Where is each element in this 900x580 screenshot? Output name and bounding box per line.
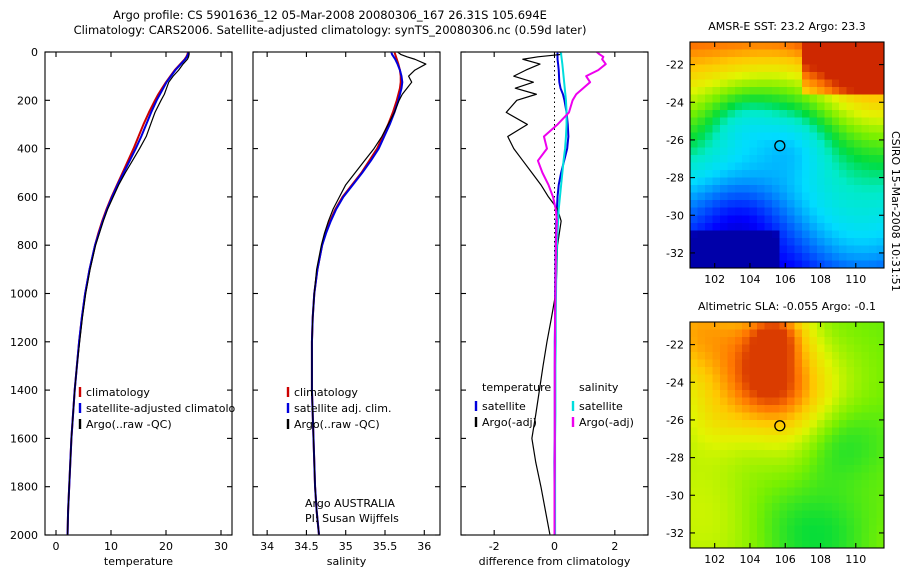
map-cell (757, 510, 765, 518)
map-cell (712, 208, 720, 216)
map-cell (780, 375, 788, 383)
map-cell (817, 102, 825, 110)
map-cell (690, 50, 698, 58)
map-cell (869, 163, 877, 171)
map-cell (742, 80, 750, 88)
map-cell (727, 420, 735, 428)
map-cell (787, 95, 795, 103)
map-cell (824, 390, 832, 398)
map-cell (862, 458, 870, 466)
map-cell (727, 450, 735, 458)
map-cell (862, 397, 870, 405)
map-cell (780, 65, 788, 73)
map-cell (802, 412, 810, 420)
map-cell (817, 458, 825, 466)
depth-tick-label: 1200 (10, 336, 38, 349)
map-cell (757, 238, 765, 246)
map-cell (862, 230, 870, 238)
map-cell (765, 450, 773, 458)
map-cell (832, 390, 840, 398)
map-cell (705, 57, 713, 65)
map-cell (697, 525, 705, 533)
map-cell (824, 132, 832, 140)
map-cell (787, 503, 795, 511)
map-cell (817, 193, 825, 201)
map-cell (742, 200, 750, 208)
map-cell (809, 322, 817, 330)
map-cell (802, 375, 810, 383)
map-cell (832, 230, 840, 238)
map-cell (690, 390, 698, 398)
map-cell (839, 397, 847, 405)
map-cell (772, 80, 780, 88)
map-cell (772, 412, 780, 420)
lat-tick-label: -28 (666, 452, 684, 465)
map-cell (780, 102, 788, 110)
map-cell (705, 375, 713, 383)
map-cell (690, 488, 698, 496)
map-cell (854, 367, 862, 375)
map-cell (750, 330, 758, 338)
map-cell (772, 238, 780, 246)
map-cell (712, 200, 720, 208)
map-cell (802, 147, 810, 155)
map-cell (742, 170, 750, 178)
map-cell (847, 110, 855, 118)
map-cell (787, 223, 795, 231)
map-cell (780, 208, 788, 216)
map-cell (780, 193, 788, 201)
map-cell (712, 495, 720, 503)
map-cell (817, 178, 825, 186)
map-cell (697, 223, 705, 231)
map-cell (697, 65, 705, 73)
map-cell (757, 140, 765, 148)
map-cell (765, 102, 773, 110)
map-cell (720, 367, 728, 375)
legend-column-header: salinity (579, 381, 619, 394)
map-cell (839, 322, 847, 330)
map-cell (794, 420, 802, 428)
map-cell (705, 260, 713, 268)
map-cell (862, 337, 870, 345)
map-cell (832, 163, 840, 171)
map-cell (772, 110, 780, 118)
legend-label: satellite (482, 400, 526, 413)
map-cell (809, 352, 817, 360)
map-cell (742, 230, 750, 238)
map-cell (847, 488, 855, 496)
map-cell (727, 185, 735, 193)
map-cell (727, 375, 735, 383)
profile-panels: 0102030temperature0200400600800100012001… (10, 46, 648, 568)
map-cell (794, 57, 802, 65)
map-cell (735, 540, 743, 548)
map-cell (862, 132, 870, 140)
map-cell (839, 420, 847, 428)
map-cell (765, 208, 773, 216)
map-cell (705, 65, 713, 73)
map-cell (817, 147, 825, 155)
map-cell (787, 102, 795, 110)
map-cell (720, 473, 728, 481)
map-cell (839, 473, 847, 481)
map-cell (757, 95, 765, 103)
map-cell (697, 110, 705, 118)
map-cell (869, 465, 877, 473)
map-cell (824, 375, 832, 383)
map-cell (697, 427, 705, 435)
map-cell (750, 412, 758, 420)
map-cell (787, 367, 795, 375)
map-cell (720, 208, 728, 216)
map-cell (780, 495, 788, 503)
map-cell (877, 420, 885, 428)
map-cell (869, 193, 877, 201)
map-cell (780, 215, 788, 223)
lat-tick-label: -26 (666, 414, 684, 427)
map-cell (877, 345, 885, 353)
map-cell (869, 525, 877, 533)
map-cell (712, 375, 720, 383)
map-cell (824, 510, 832, 518)
map-cell (765, 360, 773, 368)
map-cell (832, 260, 840, 268)
map-cell (794, 337, 802, 345)
map-cell (869, 473, 877, 481)
map-cell (735, 382, 743, 390)
map-cell (757, 125, 765, 133)
map-cell (839, 80, 847, 88)
map-cell (847, 495, 855, 503)
map-cell (727, 503, 735, 511)
map-cell (750, 110, 758, 118)
map-cell (794, 533, 802, 541)
map-cell (794, 480, 802, 488)
map-cell (750, 427, 758, 435)
map-cell (817, 495, 825, 503)
map-cell (690, 87, 698, 95)
map-cell (727, 480, 735, 488)
map-cell (832, 488, 840, 496)
map-cell (824, 533, 832, 541)
map-cell (869, 80, 877, 88)
map-cell (697, 337, 705, 345)
map-cell (712, 57, 720, 65)
lon-tick-label: 104 (739, 273, 760, 286)
map-cell (847, 132, 855, 140)
map-cell (854, 50, 862, 58)
map-cell (787, 253, 795, 261)
x-tick-label: 10 (104, 540, 118, 553)
map-cell (697, 245, 705, 253)
map-cell (765, 223, 773, 231)
map-cell (862, 495, 870, 503)
map-cell (809, 185, 817, 193)
map-cell (720, 147, 728, 155)
map-cell (742, 503, 750, 511)
map-cell (809, 132, 817, 140)
map-cell (809, 65, 817, 73)
map-cell (824, 230, 832, 238)
map-cell (794, 322, 802, 330)
map-cell (839, 360, 847, 368)
map-cell (817, 140, 825, 148)
map-cell (690, 208, 698, 216)
map-cell (727, 518, 735, 526)
map-cell (817, 110, 825, 118)
map-cell (735, 65, 743, 73)
map-cell (854, 253, 862, 261)
map-cell (727, 80, 735, 88)
panel-annotation: Argo AUSTRALIA (305, 497, 395, 510)
x-tick-label: 36 (417, 540, 431, 553)
map-cell (712, 230, 720, 238)
map-cell (824, 435, 832, 443)
map-cell (750, 360, 758, 368)
map-cell (735, 170, 743, 178)
map-cell (809, 117, 817, 125)
map-cell (832, 518, 840, 526)
map-cell (780, 352, 788, 360)
lat-tick-label: -26 (666, 134, 684, 147)
map-cell (817, 525, 825, 533)
map-cell (809, 495, 817, 503)
map-cell (742, 397, 750, 405)
map-cell (794, 525, 802, 533)
map-cell (705, 488, 713, 496)
map-cell (809, 503, 817, 511)
map-cell (877, 110, 885, 118)
map-cell (809, 337, 817, 345)
depth-tick-label: 600 (17, 191, 38, 204)
map-cell (750, 95, 758, 103)
map-cell (712, 367, 720, 375)
map-cell (772, 208, 780, 216)
map-cell (705, 72, 713, 80)
map-cell (712, 465, 720, 473)
map-cell (832, 87, 840, 95)
map-cell (742, 117, 750, 125)
map-cell (757, 503, 765, 511)
map-cell (817, 230, 825, 238)
map-cell (705, 382, 713, 390)
map-cell (750, 352, 758, 360)
map-cell (824, 102, 832, 110)
map-cell (787, 533, 795, 541)
map-cell (697, 367, 705, 375)
map-cell (824, 427, 832, 435)
map-cell (877, 435, 885, 443)
map-cell (720, 230, 728, 238)
map-cell (757, 178, 765, 186)
map-cell (765, 435, 773, 443)
map-cell (750, 525, 758, 533)
map-cell (765, 200, 773, 208)
map-cell (877, 87, 885, 95)
map-cell (824, 253, 832, 261)
map-cell (690, 427, 698, 435)
map-cell (847, 50, 855, 58)
map-cell (690, 200, 698, 208)
map-cell (780, 50, 788, 58)
map-cell (780, 382, 788, 390)
map-cell (869, 435, 877, 443)
map-cell (839, 72, 847, 80)
map-cell (794, 50, 802, 58)
map-cell (877, 163, 885, 171)
map-cell (690, 375, 698, 383)
map-cell (839, 42, 847, 50)
map-cell (735, 337, 743, 345)
map-cell (817, 367, 825, 375)
map-cell (809, 525, 817, 533)
map-cell (697, 345, 705, 353)
map-cell (847, 170, 855, 178)
map-cell (765, 238, 773, 246)
map-cell (832, 337, 840, 345)
map-cell (809, 163, 817, 171)
map-cell (877, 473, 885, 481)
map-cell (847, 253, 855, 261)
map-cell (802, 95, 810, 103)
map-cell (750, 533, 758, 541)
map-cell (757, 450, 765, 458)
map-cell (735, 427, 743, 435)
map-cell (817, 488, 825, 496)
map-cell (794, 185, 802, 193)
map-cell (720, 140, 728, 148)
map-cell (824, 495, 832, 503)
map-cell (742, 480, 750, 488)
map-cell (712, 435, 720, 443)
map-cell (750, 140, 758, 148)
map-cell (727, 72, 735, 80)
map-cell (854, 488, 862, 496)
map-cell (757, 375, 765, 383)
map-cell (750, 72, 758, 80)
map-cell (772, 95, 780, 103)
map-cell (697, 260, 705, 268)
map-cell (780, 473, 788, 481)
map-cell (824, 360, 832, 368)
map-cell (765, 163, 773, 171)
map-cell (705, 102, 713, 110)
map-cell (802, 367, 810, 375)
map-cell (697, 102, 705, 110)
map-cell (742, 50, 750, 58)
map-cell (712, 253, 720, 261)
map-cell (780, 110, 788, 118)
map-cell (832, 65, 840, 73)
map-cell (847, 435, 855, 443)
map-cell (772, 223, 780, 231)
map-cell (809, 427, 817, 435)
map-cell (705, 525, 713, 533)
map-cell (750, 480, 758, 488)
map-cell (727, 140, 735, 148)
map-cell (705, 540, 713, 548)
map-cell (877, 458, 885, 466)
map-cell (772, 230, 780, 238)
map-cell (854, 427, 862, 435)
map-cell (862, 50, 870, 58)
map-cell (705, 330, 713, 338)
map-cell (862, 345, 870, 353)
map-cell (772, 473, 780, 481)
lon-tick-label: 104 (739, 553, 760, 566)
map-cell (802, 503, 810, 511)
map-cell (735, 510, 743, 518)
map-cell (787, 360, 795, 368)
map-cell (862, 193, 870, 201)
map-cell (877, 102, 885, 110)
map-cell (847, 458, 855, 466)
map-cell (780, 345, 788, 353)
map-cell (705, 443, 713, 451)
map-cell (802, 435, 810, 443)
map-cell (877, 322, 885, 330)
map-cell (780, 390, 788, 398)
map-cell (854, 223, 862, 231)
map-cell (735, 208, 743, 216)
map-cell (847, 405, 855, 413)
map-cell (839, 102, 847, 110)
map-cell (765, 367, 773, 375)
map-cell (847, 420, 855, 428)
map-cell (877, 215, 885, 223)
map-cell (772, 405, 780, 413)
map-cell (839, 412, 847, 420)
map-cell (690, 238, 698, 246)
map-cell (750, 322, 758, 330)
map-cell (862, 518, 870, 526)
map-cell (794, 42, 802, 50)
map-cell (765, 253, 773, 261)
map-cell (735, 443, 743, 451)
map-cell (705, 465, 713, 473)
map-cell (839, 87, 847, 95)
map-cell (794, 110, 802, 118)
map-cell (817, 510, 825, 518)
map-cell (705, 518, 713, 526)
map-cell (742, 42, 750, 50)
map-cell (750, 390, 758, 398)
map-cell (802, 238, 810, 246)
map-cell (794, 367, 802, 375)
map-cell (832, 420, 840, 428)
map-cell (869, 405, 877, 413)
map-cell (839, 140, 847, 148)
x-tick-label: 34.5 (294, 540, 319, 553)
map-cell (712, 337, 720, 345)
map-cell (794, 230, 802, 238)
map-cell (802, 405, 810, 413)
map-cell (765, 322, 773, 330)
map-cell (780, 72, 788, 80)
map-cell (794, 450, 802, 458)
map-cell (839, 352, 847, 360)
map-cell (847, 230, 855, 238)
map-cell (869, 495, 877, 503)
map-cell (817, 330, 825, 338)
map-cell (690, 412, 698, 420)
map-cell (690, 245, 698, 253)
map-cell (780, 42, 788, 50)
map-cell (787, 110, 795, 118)
map-cell (712, 330, 720, 338)
map-cell (802, 42, 810, 50)
